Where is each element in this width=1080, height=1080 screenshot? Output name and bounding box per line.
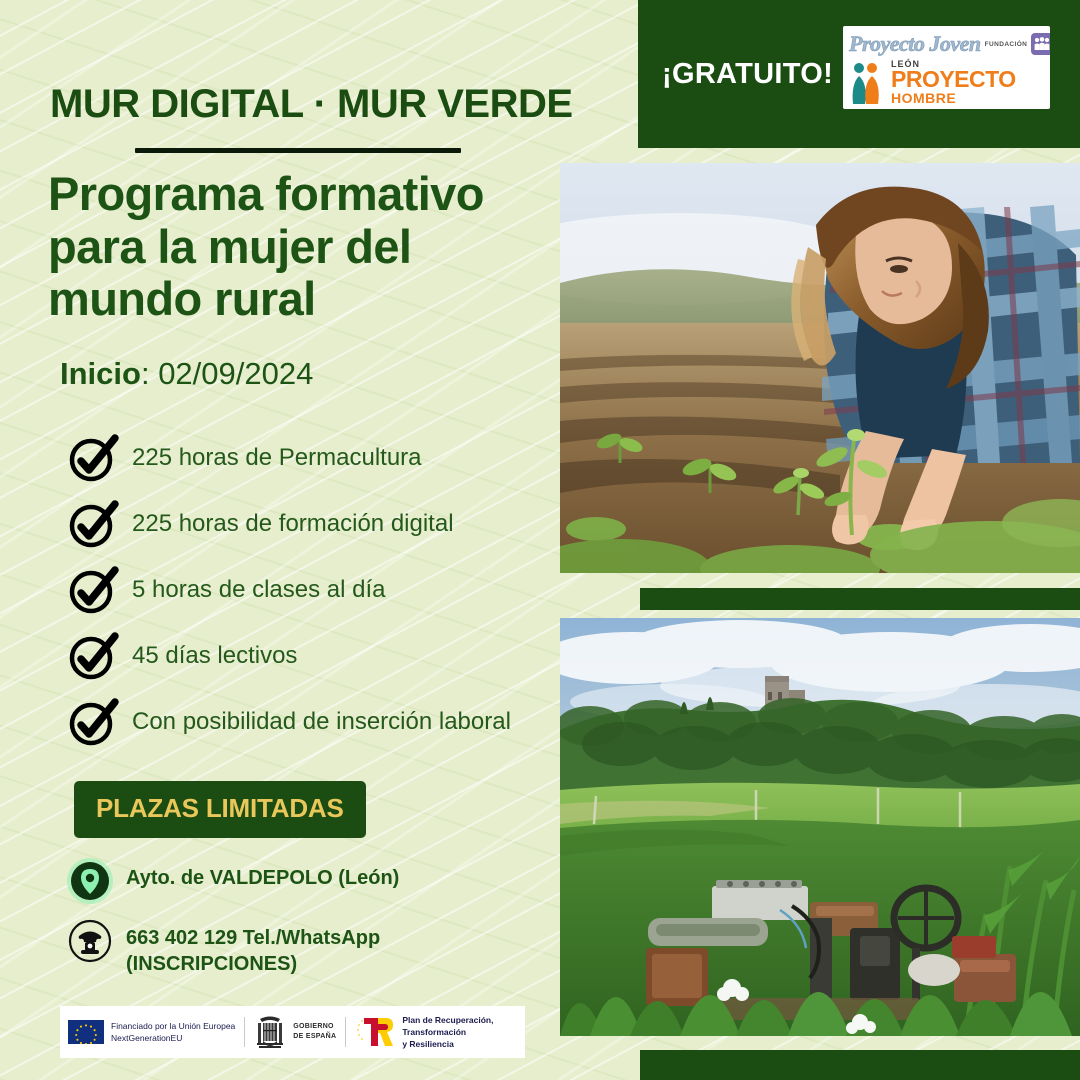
photo-rural-landscape bbox=[560, 618, 1080, 1036]
eu-funding-line1: Financiado por la Unión Europea bbox=[111, 1021, 235, 1031]
contact-block: Ayto. de VALDEPOLO (León) 663 402 129 Te… bbox=[66, 857, 586, 989]
contact-location-text: Ayto. de VALDEPOLO (León) bbox=[126, 857, 399, 892]
list-item: 225 horas de Permacultura bbox=[68, 425, 588, 491]
contact-phone-line2: (INSCRIPCIONES) bbox=[126, 952, 380, 978]
recovery-plan-group: Plan de Recuperación, Transformación y R… bbox=[355, 1014, 493, 1051]
photo-woman-planting-art bbox=[560, 163, 1080, 573]
poster-root: ¡GRATUITO! Proyecto Joven FUNDACIÓN bbox=[0, 0, 1080, 1080]
government-line2: DE ESPAÑA bbox=[293, 1033, 336, 1040]
check-circle-icon bbox=[68, 499, 124, 549]
list-item: 225 horas de formación digital bbox=[68, 491, 588, 557]
family-icon-art bbox=[1034, 37, 1050, 51]
recovery-plan-line1: Plan de Recuperación, bbox=[402, 1015, 493, 1025]
check-circle-icon-art bbox=[68, 433, 124, 483]
divider-bar-middle bbox=[640, 588, 1080, 610]
logo-text-block: LEÓN PROYECTO HOMBRE bbox=[891, 60, 1016, 105]
contact-phone-text: 663 402 129 Tel./WhatsApp (INSCRIPCIONES… bbox=[126, 917, 380, 977]
list-item-label: 45 días lectivos bbox=[132, 642, 297, 670]
logo-brand-line1: PROYECTO bbox=[891, 69, 1016, 91]
eu-funding-line2: NextGenerationEU bbox=[111, 1033, 182, 1043]
two-figures-icon-art bbox=[849, 62, 885, 104]
check-circle-icon bbox=[68, 631, 124, 681]
program-kicker: MUR DIGITAL · MUR VERDE bbox=[50, 82, 573, 127]
logo-brand-line2: HOMBRE bbox=[891, 91, 1016, 105]
features-checklist: 225 horas de Permacultura 225 horas de f… bbox=[68, 425, 588, 755]
list-item: Con posibilidad de inserción laboral bbox=[68, 689, 588, 755]
photo-woman-planting bbox=[560, 163, 1080, 573]
recovery-plan-tr-icon bbox=[355, 1015, 395, 1049]
government-line1: GOBIERNO bbox=[293, 1023, 334, 1030]
free-label: ¡GRATUITO! bbox=[662, 58, 833, 91]
start-label: Inicio bbox=[60, 356, 141, 391]
list-item: 45 días lectivos bbox=[68, 623, 588, 689]
contact-phone-row: 663 402 129 Tel./WhatsApp (INSCRIPCIONES… bbox=[66, 917, 586, 977]
divider-1 bbox=[244, 1017, 245, 1047]
recovery-plan-line3: y Resiliencia bbox=[402, 1039, 454, 1049]
list-item-label: 5 horas de clases al día bbox=[132, 576, 386, 604]
page-title: Programa formativo para la mujer del mun… bbox=[48, 168, 578, 326]
check-circle-icon-art bbox=[68, 499, 124, 549]
logo-proyecto-joven-wordmark: Proyecto Joven bbox=[849, 33, 981, 55]
headline-line-1: Programa formativo bbox=[48, 168, 578, 221]
list-item-label: 225 horas de formación digital bbox=[132, 510, 454, 538]
family-icon bbox=[1031, 33, 1050, 55]
divider-bar-bottom bbox=[640, 1050, 1080, 1080]
recovery-plan-tr-icon-art bbox=[355, 1015, 395, 1049]
two-figures-icon bbox=[849, 62, 885, 104]
funding-logos-strip: Financiado por la Unión Europea NextGene… bbox=[60, 1006, 525, 1058]
government-text: GOBIERNO DE ESPAÑA bbox=[293, 1022, 336, 1043]
location-pin-icon-art bbox=[66, 857, 114, 905]
headline-line-2: para la mujer del bbox=[48, 221, 578, 274]
eu-funding-group: Financiado por la Unión Europea NextGene… bbox=[68, 1020, 235, 1045]
start-date-value: 02/09/2024 bbox=[158, 356, 313, 391]
check-circle-icon-art bbox=[68, 565, 124, 615]
spain-coat-of-arms-icon-art bbox=[254, 1013, 286, 1051]
check-circle-icon-art bbox=[68, 631, 124, 681]
check-circle-icon bbox=[68, 433, 124, 483]
logo-foundation-label: FUNDACIÓN bbox=[985, 41, 1028, 48]
list-item-label: Con posibilidad de inserción laboral bbox=[132, 708, 511, 736]
title-rule bbox=[135, 148, 461, 153]
government-group: GOBIERNO DE ESPAÑA bbox=[254, 1013, 336, 1051]
photo-rural-landscape-art bbox=[560, 618, 1080, 1036]
check-circle-icon bbox=[68, 697, 124, 747]
start-date-row: Inicio: 02/09/2024 bbox=[60, 356, 313, 392]
headline-line-3: mundo rural bbox=[48, 273, 578, 326]
divider-2 bbox=[345, 1017, 346, 1047]
check-circle-icon-art bbox=[68, 697, 124, 747]
contact-location-row: Ayto. de VALDEPOLO (León) bbox=[66, 857, 586, 905]
list-item-label: 225 horas de Permacultura bbox=[132, 444, 422, 472]
location-pin-icon bbox=[66, 857, 114, 905]
recovery-plan-text: Plan de Recuperación, Transformación y R… bbox=[402, 1014, 493, 1051]
logo-bottom-row: LEÓN PROYECTO HOMBRE bbox=[849, 60, 1044, 105]
eu-funding-text: Financiado por la Unión Europea NextGene… bbox=[111, 1020, 235, 1045]
limited-seats-badge: PLAZAS LIMITADAS bbox=[74, 781, 366, 838]
contact-phone-line1: 663 402 129 Tel./WhatsApp bbox=[126, 926, 380, 952]
check-circle-icon bbox=[68, 565, 124, 615]
eu-flag-icon bbox=[68, 1020, 104, 1044]
spain-coat-of-arms-icon bbox=[254, 1013, 286, 1051]
start-separator: : bbox=[141, 356, 158, 391]
telephone-icon-art bbox=[66, 917, 114, 965]
recovery-plan-line2: Transformación bbox=[402, 1027, 466, 1037]
logo-proyecto-hombre: Proyecto Joven FUNDACIÓN bbox=[843, 26, 1050, 109]
list-item: 5 horas de clases al día bbox=[68, 557, 588, 623]
eu-flag-icon-art bbox=[68, 1020, 104, 1044]
logo-top-row: Proyecto Joven FUNDACIÓN bbox=[849, 30, 1044, 58]
telephone-icon bbox=[66, 917, 114, 965]
